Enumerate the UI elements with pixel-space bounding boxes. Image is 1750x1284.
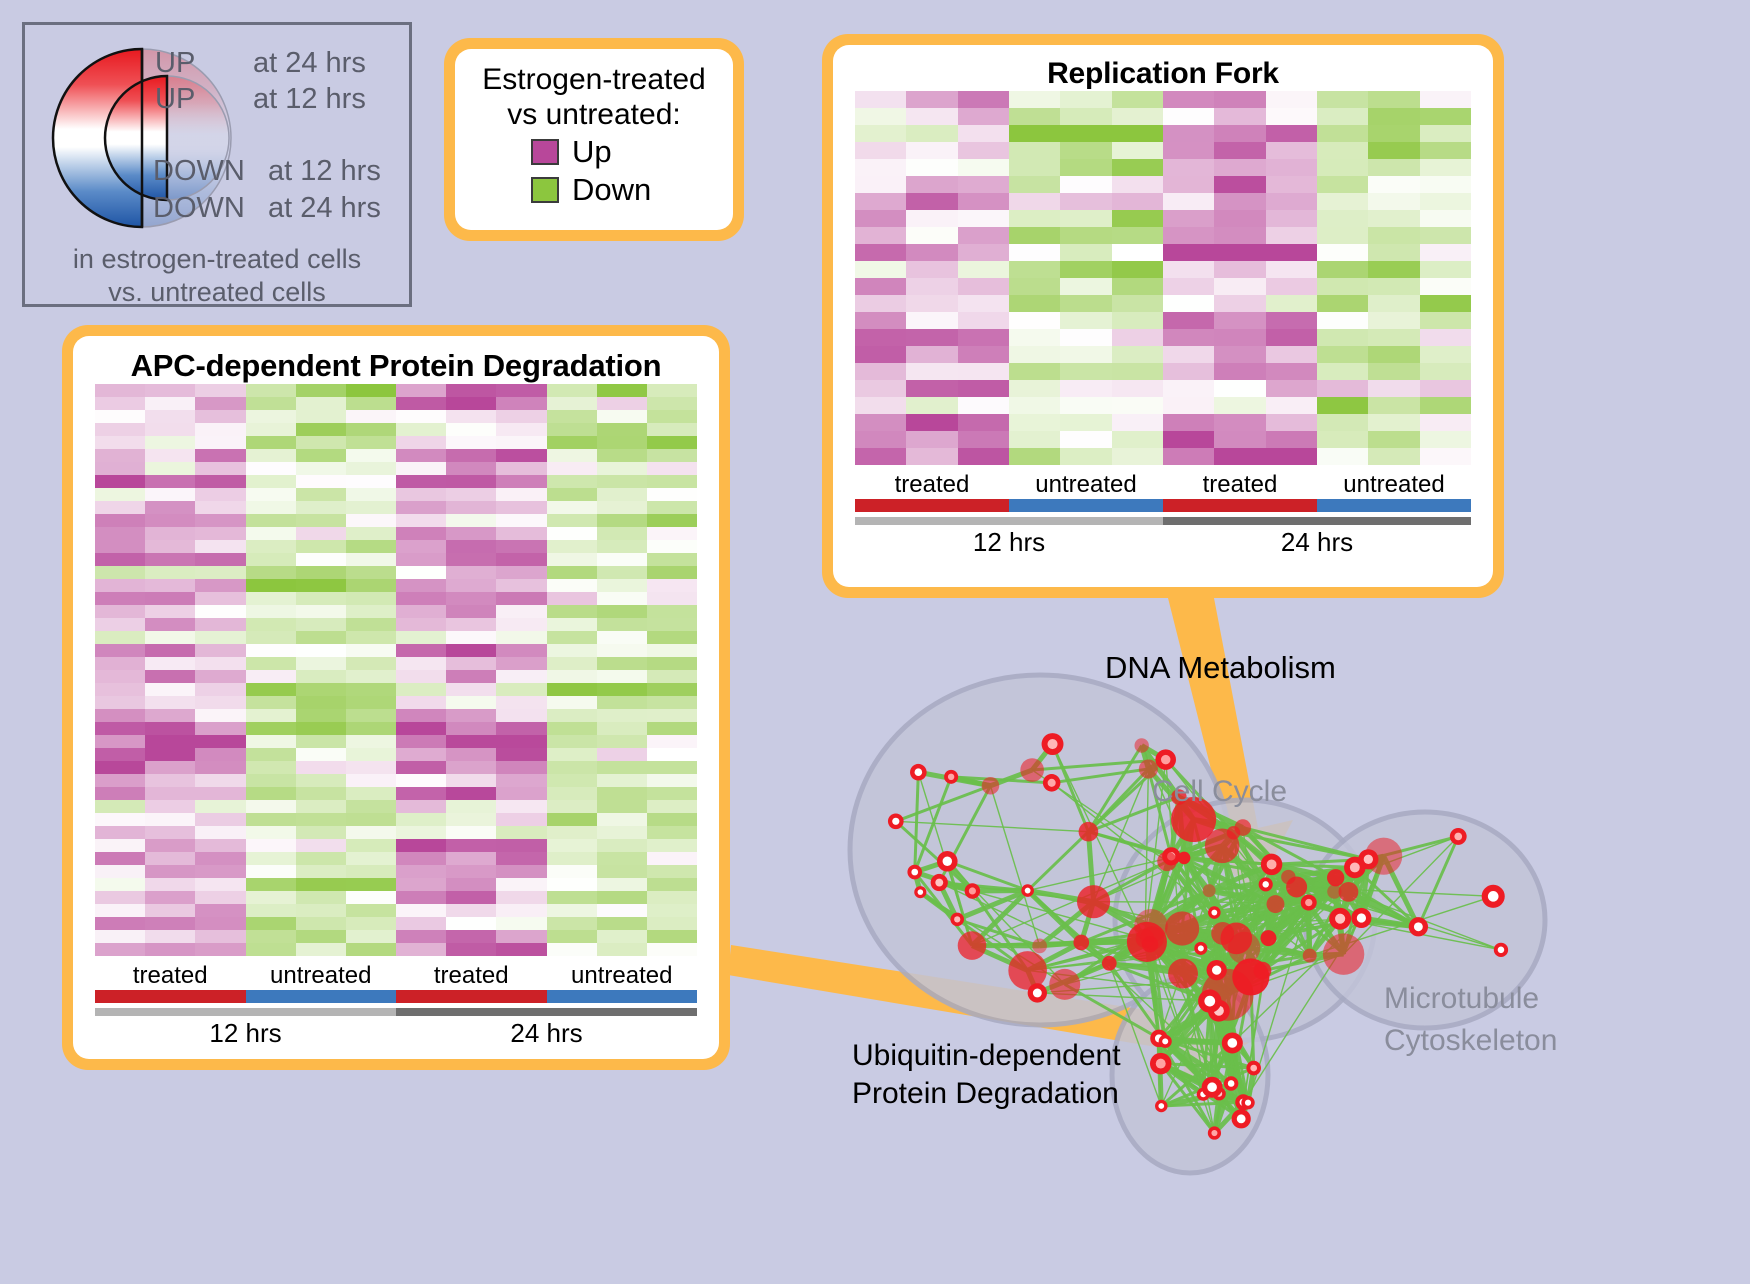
heatmap-cell [346, 774, 396, 787]
heatmap-cell [547, 436, 597, 449]
heatmap-cell [547, 943, 597, 956]
heatmap-cell [95, 462, 145, 475]
heatmap-cell [1266, 346, 1317, 363]
heatmap-cell [346, 618, 396, 631]
heatmap-cell [1420, 261, 1471, 278]
heatmap-cell [296, 683, 346, 696]
heatmap-cell [195, 592, 245, 605]
heatmap-cell [95, 852, 145, 865]
rf-time-1: 24 hrs [1163, 527, 1471, 558]
heatmap-cell [1060, 380, 1111, 397]
heatmap-cell [396, 813, 446, 826]
heatmap-cell [855, 414, 906, 431]
heatmap-cell [1317, 329, 1368, 346]
heatmap-cell [496, 553, 546, 566]
heatmap-cell [246, 683, 296, 696]
heatmap-cell [145, 397, 195, 410]
heatmap-cell [396, 683, 446, 696]
heatmap-cell [855, 261, 906, 278]
heatmap-cell [958, 210, 1009, 227]
heatmap-cell [346, 787, 396, 800]
heatmap-cell [496, 644, 546, 657]
heatmap-cell [195, 761, 245, 774]
heatmap-cell [906, 380, 957, 397]
heatmap-cell [246, 423, 296, 436]
network-node [1157, 851, 1177, 871]
heatmap-cell [1112, 329, 1163, 346]
heatmap-cell [597, 917, 647, 930]
heatmap-cell [547, 878, 597, 891]
heatmap-cell [346, 761, 396, 774]
heatmap-cell [958, 142, 1009, 159]
heatmap-cell [1266, 159, 1317, 176]
heatmap-cell [1368, 363, 1419, 380]
heatmap-cell [446, 917, 496, 930]
heatmap-cell [396, 579, 446, 592]
heatmap-cell [296, 917, 346, 930]
heatmap-cell [547, 930, 597, 943]
heatmap-cell [547, 800, 597, 813]
network-node-core [915, 768, 923, 776]
heatmap-cell [1420, 363, 1471, 380]
heatmap-cell [446, 540, 496, 553]
heatmap-cell [446, 787, 496, 800]
heatmap-cell [246, 709, 296, 722]
heatmap-cell [958, 397, 1009, 414]
heatmap-cell [1009, 108, 1060, 125]
heatmap-cell [1266, 397, 1317, 414]
heatmap-cell [547, 384, 597, 397]
heatmap-cell [496, 410, 546, 423]
heatmap-cell [597, 930, 647, 943]
apc-time-labels: 12 hrs 24 hrs [95, 1018, 697, 1049]
heatmap-cell [1214, 431, 1265, 448]
heatmap-cell [1060, 295, 1111, 312]
heatmap-cell [906, 431, 957, 448]
heatmap-cell [195, 566, 245, 579]
heatmap-cell [547, 475, 597, 488]
heatmap-cell [195, 488, 245, 501]
down-legend-label: Down [572, 172, 651, 208]
heatmap-cell [95, 735, 145, 748]
heatmap-cell [1163, 431, 1214, 448]
heatmap-cell [95, 384, 145, 397]
heatmap-cell [547, 917, 597, 930]
heatmap-cell [446, 410, 496, 423]
heatmap-cell [496, 501, 546, 514]
heatmap-cell [1266, 312, 1317, 329]
heatmap-cell [1163, 363, 1214, 380]
heatmap-cell [1009, 91, 1060, 108]
heatmap-cell [346, 735, 396, 748]
heatmap-cell [95, 891, 145, 904]
heatmap-cell [906, 312, 957, 329]
network-node-core [1158, 1103, 1164, 1109]
network-node-core [1237, 1114, 1246, 1123]
heatmap-cell [1317, 91, 1368, 108]
heatmap-cell [195, 722, 245, 735]
heatmap-cell [597, 722, 647, 735]
heatmap-cell [855, 346, 906, 363]
heatmap-cell [496, 384, 546, 397]
heatmap-cell [1420, 210, 1471, 227]
heatmap-cell [396, 384, 446, 397]
heatmap-cell [195, 657, 245, 670]
heatmap-cell [396, 670, 446, 683]
heatmap-cell [855, 227, 906, 244]
heatmap-cell [346, 670, 396, 683]
network-node-core [1364, 855, 1373, 864]
heatmap-cell [597, 436, 647, 449]
heatmap-cell [246, 605, 296, 618]
heatmap-cell [246, 787, 296, 800]
heatmap-cell [1112, 448, 1163, 465]
heatmap-cell [958, 448, 1009, 465]
network-node-core [1212, 965, 1221, 974]
heatmap-cell [145, 839, 195, 852]
heatmap-cell [547, 748, 597, 761]
heatmap-cell [958, 278, 1009, 295]
heatmap-cell [346, 709, 396, 722]
heatmap-cell [396, 527, 446, 540]
heatmap-cell [246, 410, 296, 423]
heatmap-cell [1266, 414, 1317, 431]
heatmap-cell [958, 125, 1009, 142]
heatmap-cell [855, 397, 906, 414]
heatmap-cell [95, 787, 145, 800]
replication-fork-condition-labels: treated untreated treated untreated [855, 471, 1471, 499]
heatmap-cell [296, 605, 346, 618]
heatmap-cell [446, 735, 496, 748]
heatmap-cell [296, 800, 346, 813]
heatmap-cell [446, 566, 496, 579]
heatmap-cell [296, 384, 346, 397]
heatmap-cell [296, 891, 346, 904]
heatmap-cell [195, 826, 245, 839]
heatmap-cell [296, 735, 346, 748]
heatmap-cell [346, 631, 396, 644]
heatmap-cell [95, 904, 145, 917]
heatmap-cell [547, 397, 597, 410]
heatmap-cell [396, 787, 446, 800]
heatmap-cell [1163, 295, 1214, 312]
heatmap-cell [95, 683, 145, 696]
heatmap-cell [547, 579, 597, 592]
heatmap-cell [145, 540, 195, 553]
heatmap-cell [1266, 261, 1317, 278]
heatmap-cell [246, 566, 296, 579]
legend-row-3-time: at 24 hrs [268, 192, 381, 225]
heatmap-cell [296, 527, 346, 540]
rf-bar-treated-12 [855, 499, 1009, 512]
heatmap-cell [647, 709, 697, 722]
heatmap-cell [396, 592, 446, 605]
heatmap-cell [496, 852, 546, 865]
heatmap-cell [195, 735, 245, 748]
heatmap-cell [547, 813, 597, 826]
heatmap-cell [95, 527, 145, 540]
heatmap-cell [647, 800, 697, 813]
heatmap-cell [496, 605, 546, 618]
heatmap-cell [396, 878, 446, 891]
network-node [1008, 951, 1047, 990]
heatmap-cell [496, 683, 546, 696]
heatmap-cell [1060, 414, 1111, 431]
heatmap-cell [396, 488, 446, 501]
heatmap-cell [346, 566, 396, 579]
heatmap-cell [597, 540, 647, 553]
network-node-core [1047, 739, 1057, 749]
heatmap-cell [1163, 414, 1214, 431]
network-node-core [1207, 1082, 1217, 1092]
heatmap-cell [396, 826, 446, 839]
heatmap-cell [246, 475, 296, 488]
network-node-core [1305, 899, 1312, 906]
heatmap-cell [597, 826, 647, 839]
heatmap-cell [1266, 142, 1317, 159]
heatmap-cell [246, 722, 296, 735]
heatmap-cell [1060, 108, 1111, 125]
heatmap-cell [446, 631, 496, 644]
heatmap-cell [1112, 312, 1163, 329]
heatmap-cell [547, 553, 597, 566]
heatmap-cell [958, 244, 1009, 261]
heatmap-cell [296, 878, 346, 891]
heatmap-cell [1163, 176, 1214, 193]
heatmap-cell [1317, 380, 1368, 397]
heatmap-cell [95, 410, 145, 423]
heatmap-cell [95, 709, 145, 722]
heatmap-cell [95, 865, 145, 878]
heatmap-cell [547, 423, 597, 436]
heatmap-cell [647, 566, 697, 579]
network-node [1235, 819, 1252, 836]
heatmap-cell [1420, 176, 1471, 193]
heatmap-cell [95, 436, 145, 449]
heatmap-cell [1214, 142, 1265, 159]
heatmap-cell [597, 605, 647, 618]
heatmap-cell [547, 891, 597, 904]
heatmap-cell [547, 761, 597, 774]
heatmap-cell [95, 449, 145, 462]
heatmap-cell [1420, 414, 1471, 431]
heatmap-cell [296, 657, 346, 670]
heatmap-cell [906, 227, 957, 244]
heatmap-cell [195, 462, 245, 475]
heatmap-cell [855, 244, 906, 261]
heatmap-cell [446, 904, 496, 917]
heatmap-cell [95, 540, 145, 553]
heatmap-cell [195, 618, 245, 631]
apc-cond-2: treated [396, 962, 547, 990]
heatmap-cell [496, 449, 546, 462]
heatmap-cell [1266, 244, 1317, 261]
heatmap-cell [1163, 261, 1214, 278]
heatmap-cell [1214, 312, 1265, 329]
heatmap-cell [1214, 210, 1265, 227]
heatmap-cell [597, 813, 647, 826]
heatmap-cell [296, 865, 346, 878]
heatmap-cell [496, 904, 546, 917]
heatmap-cell [446, 930, 496, 943]
heatmap-cell [246, 930, 296, 943]
network-node [1077, 885, 1110, 918]
heatmap-cell [296, 644, 346, 657]
heatmap-cell [396, 800, 446, 813]
up-legend-label: Up [572, 134, 612, 170]
heatmap-cell [346, 397, 396, 410]
heatmap-cell [1009, 142, 1060, 159]
network-node-core [969, 887, 976, 894]
heatmap-cell [647, 735, 697, 748]
heatmap-cell [547, 566, 597, 579]
heatmap-cell [496, 592, 546, 605]
network-node-core [1414, 922, 1423, 931]
heatmap-cell [95, 774, 145, 787]
heatmap-cell [547, 865, 597, 878]
heatmap-cell [958, 431, 1009, 448]
heatmap-cell [195, 579, 245, 592]
heatmap-cell [1163, 312, 1214, 329]
heatmap-cell [1266, 125, 1317, 142]
heatmap-cell [1009, 278, 1060, 295]
heatmap-cell [95, 605, 145, 618]
heatmap-cell [1060, 244, 1111, 261]
heatmap-cell [95, 657, 145, 670]
heatmap-cell [446, 943, 496, 956]
apc-time-1: 24 hrs [396, 1018, 697, 1049]
network-node-core [1350, 862, 1360, 872]
heatmap-cell [1163, 159, 1214, 176]
heatmap-cell [195, 917, 245, 930]
heatmap-cell [906, 142, 957, 159]
heatmap-cell [597, 514, 647, 527]
heatmap-cell [1420, 91, 1471, 108]
heatmap-cell [346, 501, 396, 514]
heatmap-cell [647, 813, 697, 826]
heatmap-cell [346, 852, 396, 865]
heatmap-cell [346, 579, 396, 592]
heatmap-cell [647, 748, 697, 761]
heatmap-cell [396, 449, 446, 462]
heatmap-cell [906, 329, 957, 346]
heatmap-cell [446, 891, 496, 904]
heatmap-cell [246, 540, 296, 553]
heatmap-cell [296, 553, 346, 566]
network-node-core [1048, 779, 1056, 787]
apc-degradation-panel: APC-dependent Protein Degradation treate… [62, 325, 730, 1070]
heatmap-cell [1368, 176, 1419, 193]
heatmap-cell [95, 514, 145, 527]
heatmap-cell [446, 826, 496, 839]
heatmap-cell [246, 657, 296, 670]
heatmap-cell [1214, 261, 1265, 278]
heatmap-cell [547, 605, 597, 618]
heatmap-cell [145, 605, 195, 618]
heatmap-cell [446, 423, 496, 436]
heatmap-cell [446, 384, 496, 397]
heatmap-cell [496, 865, 546, 878]
heatmap-cell [195, 553, 245, 566]
apc-time-0: 12 hrs [95, 1018, 396, 1049]
heatmap-cell [145, 410, 195, 423]
heatmap-cell [597, 904, 647, 917]
heatmap-cell [1317, 108, 1368, 125]
heatmap-cell [145, 670, 195, 683]
heatmap-cell [1112, 210, 1163, 227]
heatmap-cell [1009, 176, 1060, 193]
network-node-core [1211, 1130, 1217, 1136]
heatmap-cell [145, 384, 195, 397]
network-node-core [1025, 888, 1031, 894]
heatmap-cell [95, 722, 145, 735]
heatmap-cell [547, 683, 597, 696]
network-node-core [1454, 833, 1462, 841]
heatmap-cell [855, 380, 906, 397]
heatmap-cell [1317, 261, 1368, 278]
heatmap-cell [346, 553, 396, 566]
heatmap-cell [1214, 278, 1265, 295]
heatmap-cell [1266, 278, 1317, 295]
apc-timebar-24hrs [396, 1008, 697, 1016]
heatmap-cell [1368, 278, 1419, 295]
heatmap-cell [246, 735, 296, 748]
heatmap-cell [547, 527, 597, 540]
heatmap-cell [647, 891, 697, 904]
heatmap-cell [195, 475, 245, 488]
heatmap-cell [446, 579, 496, 592]
heatmap-cell [95, 917, 145, 930]
replication-fork-condition-bar [855, 499, 1471, 512]
heatmap-cell [1214, 397, 1265, 414]
network-node-core [1250, 1065, 1257, 1072]
heatmap-cell [195, 696, 245, 709]
heatmap-cell [246, 761, 296, 774]
heatmap-cell [95, 826, 145, 839]
heatmap-cell [246, 800, 296, 813]
heatmap-cell [1420, 244, 1471, 261]
heatmap-cell [446, 475, 496, 488]
heatmap-cell [597, 501, 647, 514]
heatmap-cell [1317, 210, 1368, 227]
heatmap-cell [346, 605, 396, 618]
heatmap-cell [647, 631, 697, 644]
heatmap-cell [597, 618, 647, 631]
heatmap-cell [145, 449, 195, 462]
heatmap-cell [195, 891, 245, 904]
heatmap-cell [246, 631, 296, 644]
heatmap-cell [396, 410, 446, 423]
heatmap-cell [195, 449, 245, 462]
heatmap-cell [1060, 312, 1111, 329]
heatmap-cell [296, 852, 346, 865]
heatmap-cell [346, 865, 396, 878]
heatmap-cell [296, 488, 346, 501]
heatmap-cell [296, 748, 346, 761]
heatmap-cell [547, 826, 597, 839]
heatmap-cell [296, 618, 346, 631]
heatmap-cell [1266, 380, 1317, 397]
heatmap-cell [597, 657, 647, 670]
heatmap-cell [597, 384, 647, 397]
cluster-label-cell-cycle: Cell Cycle [1152, 775, 1287, 809]
heatmap-cell [647, 683, 697, 696]
heatmap-cell [195, 631, 245, 644]
heatmap-cell [1112, 142, 1163, 159]
heatmap-cell [396, 631, 446, 644]
heatmap-cell [446, 462, 496, 475]
heatmap-cell [1368, 125, 1419, 142]
